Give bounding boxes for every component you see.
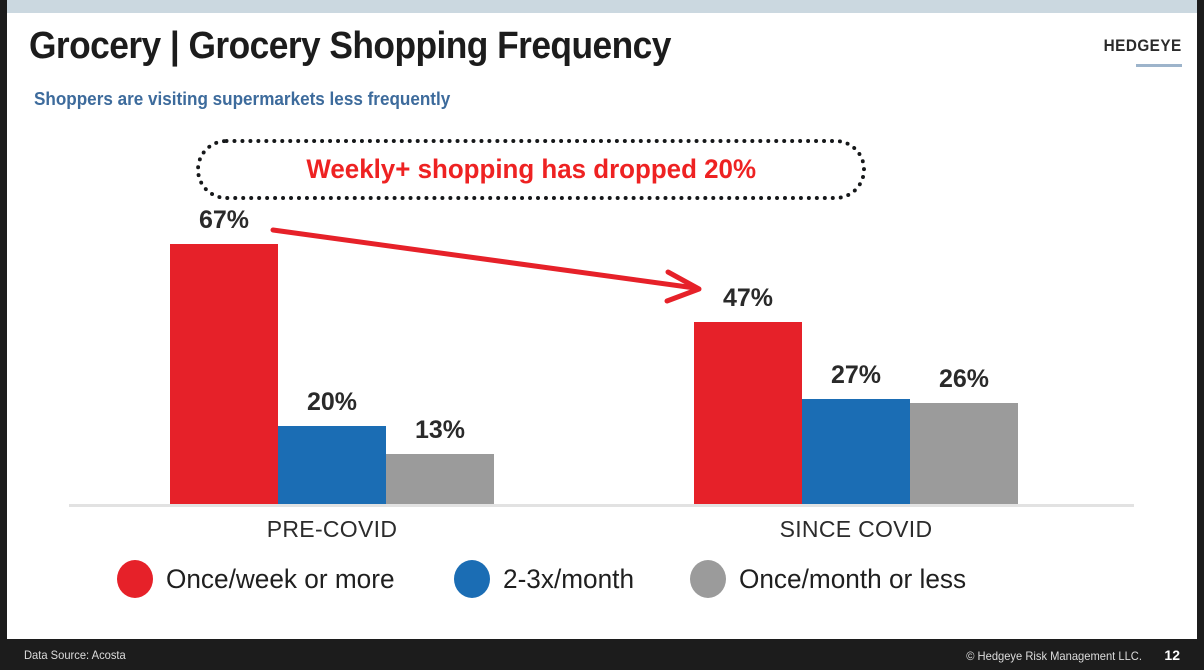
legend-item: 2-3x/month [454, 560, 638, 598]
legend-item: Once/week or more [117, 560, 402, 598]
chart-legend: Once/week or more 2-3x/month Once/month … [117, 560, 973, 598]
legend-swatch-gray [690, 560, 726, 598]
bar-value-label: 13% [415, 416, 465, 445]
bar [278, 426, 386, 504]
category-label: SINCE COVID [780, 516, 933, 543]
bar-value-label: 20% [307, 388, 357, 417]
data-source-text: Data Source: Acosta [24, 648, 126, 662]
legend-swatch-red [117, 560, 153, 598]
legend-label: Once/month or less [739, 564, 966, 595]
legend-label: Once/week or more [166, 564, 395, 595]
slide-footer: Data Source: Acosta © Hedgeye Risk Manag… [0, 639, 1204, 670]
footer-right-group: © Hedgeye Risk Management LLC. 12 [953, 647, 1180, 663]
legend-item: Once/month or less [690, 560, 973, 598]
legend-swatch-blue [454, 560, 490, 598]
bar [802, 399, 910, 504]
bar-value-label: 47% [723, 284, 773, 313]
legend-label: 2-3x/month [503, 564, 634, 595]
bar-value-label: 27% [831, 361, 881, 390]
bar-value-label: 67% [199, 206, 249, 235]
copyright-text: © Hedgeye Risk Management LLC. [967, 649, 1143, 663]
category-label: PRE-COVID [267, 516, 398, 543]
bar-value-label: 26% [939, 365, 989, 394]
slide: Grocery | Grocery Shopping Frequency Sho… [0, 0, 1204, 670]
page-number: 12 [1164, 647, 1180, 663]
bar [386, 454, 494, 504]
chart-baseline-axis [69, 504, 1134, 507]
bar [694, 322, 802, 504]
bar [910, 403, 1018, 504]
bar [170, 244, 278, 504]
